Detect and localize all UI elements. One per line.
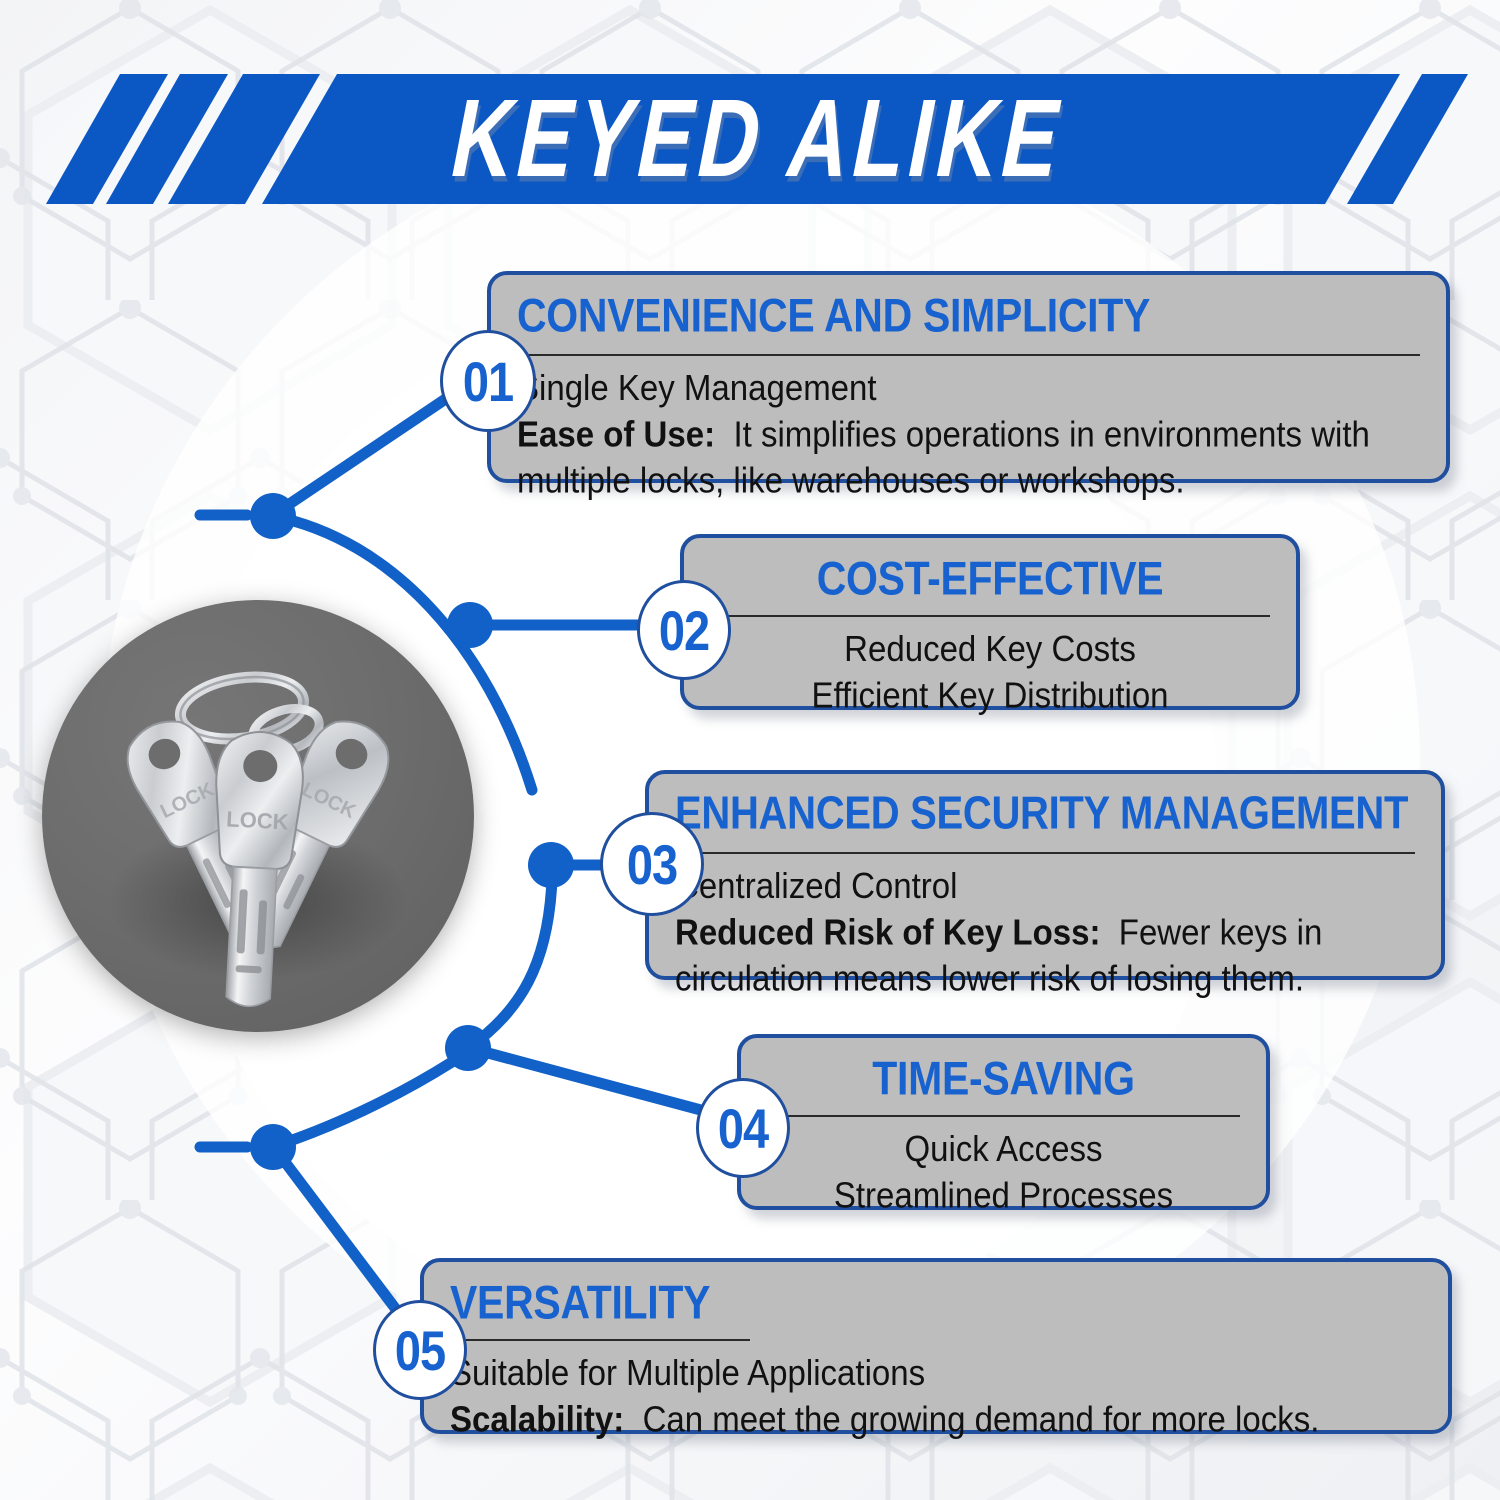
card-line-04-2: Streamlined Processes bbox=[767, 1172, 1240, 1218]
card-body-01: Single Key Management Ease of Use: It si… bbox=[517, 365, 1420, 504]
card-rule-01 bbox=[517, 354, 1420, 356]
card-heading-02: COST-EFFECTIVE bbox=[710, 554, 1270, 603]
card-heading-01: CONVENIENCE AND SIMPLICITY bbox=[517, 291, 1150, 340]
number-badge-03-text: 03 bbox=[627, 832, 677, 897]
number-badge-05[interactable]: 05 bbox=[373, 1300, 467, 1400]
card-rule-05 bbox=[450, 1339, 750, 1341]
card-body-04: Quick Access Streamlined Processes bbox=[767, 1126, 1240, 1219]
card-heading-04: TIME-SAVING bbox=[767, 1054, 1240, 1103]
card-line-03-2: Reduced Risk of Key Loss: Fewer keys in … bbox=[675, 909, 1415, 1002]
card-rule-02 bbox=[710, 615, 1270, 617]
card-line-04-1: Quick Access bbox=[767, 1126, 1240, 1172]
card-rule-04 bbox=[767, 1115, 1240, 1117]
number-badge-05-text: 05 bbox=[395, 1318, 445, 1383]
card-heading-05: VERSATILITY bbox=[450, 1278, 710, 1327]
card-line-01-1: Single Key Management bbox=[517, 365, 1420, 411]
feature-card-05[interactable]: VERSATILITY Suitable for Multiple Applic… bbox=[420, 1258, 1452, 1434]
number-badge-04[interactable]: 04 bbox=[696, 1078, 790, 1178]
feature-card-01[interactable]: CONVENIENCE AND SIMPLICITY Single Key Ma… bbox=[487, 271, 1450, 483]
number-badge-01[interactable]: 01 bbox=[440, 330, 536, 432]
card-line-01-2: Ease of Use: It simplifies operations in… bbox=[517, 411, 1420, 504]
feature-card-02[interactable]: COST-EFFECTIVE Reduced Key Costs Efficie… bbox=[680, 534, 1300, 710]
card-rule-03 bbox=[675, 852, 1415, 854]
card-line-03-1: Centralized Control bbox=[675, 863, 1415, 909]
card-line-05-1: Suitable for Multiple Applications bbox=[450, 1350, 1422, 1396]
number-badge-02-text: 02 bbox=[659, 598, 709, 663]
number-badge-01-text: 01 bbox=[463, 349, 513, 414]
svg-text:LOCK: LOCK bbox=[226, 806, 290, 834]
card-line-05-2: Scalability: Can meet the growing demand… bbox=[450, 1396, 1422, 1442]
card-heading-03: ENHANCED SECURITY MANAGEMENT bbox=[675, 790, 1408, 838]
feature-card-03[interactable]: ENHANCED SECURITY MANAGEMENT Centralized… bbox=[645, 770, 1445, 980]
number-badge-03[interactable]: 03 bbox=[600, 812, 704, 916]
arc-node-05 bbox=[250, 1124, 296, 1170]
card-body-02: Reduced Key Costs Efficient Key Distribu… bbox=[710, 626, 1270, 719]
card-body-05: Suitable for Multiple Applications Scala… bbox=[450, 1350, 1422, 1443]
keys-illustration: LOCK LOCK bbox=[42, 600, 474, 1032]
number-badge-02[interactable]: 02 bbox=[637, 580, 731, 680]
arc-node-03 bbox=[528, 842, 574, 888]
keys-photo-circle: LOCK LOCK bbox=[42, 600, 474, 1032]
card-line-02-2: Efficient Key Distribution bbox=[710, 672, 1270, 718]
feature-card-04[interactable]: TIME-SAVING Quick Access Streamlined Pro… bbox=[737, 1034, 1270, 1210]
card-body-03: Centralized Control Reduced Risk of Key … bbox=[675, 863, 1415, 1002]
infographic-canvas: KEYED ALIKE bbox=[0, 0, 1500, 1500]
arc-node-01 bbox=[250, 493, 296, 539]
card-line-02-1: Reduced Key Costs bbox=[710, 626, 1270, 672]
number-badge-04-text: 04 bbox=[718, 1096, 768, 1161]
